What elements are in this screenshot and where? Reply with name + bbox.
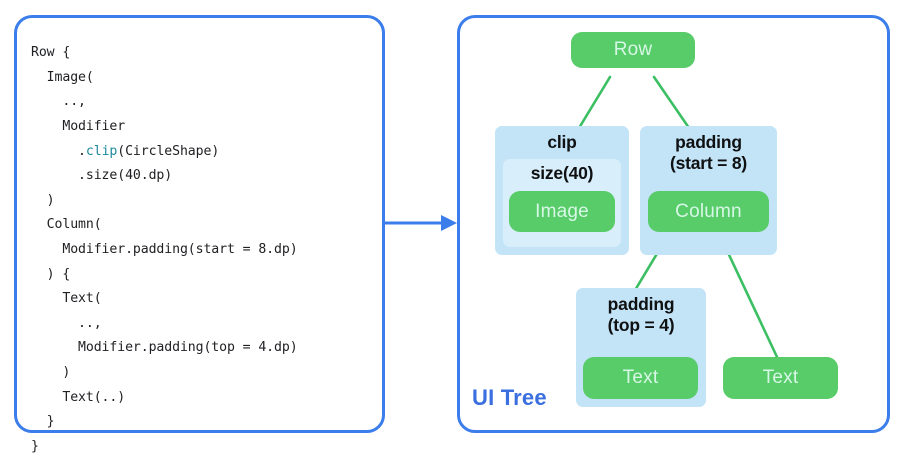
- tree-node-image-label: Image: [535, 201, 589, 223]
- code-token: ): [31, 365, 70, 380]
- tree-node-image[interactable]: Image: [509, 191, 615, 232]
- transform-arrow-icon: [385, 212, 459, 234]
- tree-node-column[interactable]: Column: [648, 191, 769, 232]
- code-line: Row {: [31, 41, 376, 66]
- code-token: }: [31, 414, 55, 429]
- code-token: .: [31, 144, 86, 159]
- code-line: ): [31, 189, 376, 214]
- code-line: .size(40.dp): [31, 164, 376, 189]
- code-line: Modifier: [31, 115, 376, 140]
- code-line: Column(: [31, 213, 376, 238]
- code-line: Text(: [31, 287, 376, 312]
- tree-node-row[interactable]: Row: [571, 32, 695, 68]
- code-token: Modifier.padding(start = 8.dp): [31, 242, 298, 257]
- code-token: ) {: [31, 267, 70, 282]
- tree-node-text-plain-label: Text: [763, 367, 799, 389]
- code-token-function: clip: [86, 144, 117, 159]
- modifier-node-padding-top-label-line1: padding: [576, 294, 706, 315]
- code-line: }: [31, 435, 376, 459]
- code-token: .size(40.dp): [31, 168, 172, 183]
- modifier-node-padding-start-label-line1: padding: [640, 132, 777, 153]
- diagram-root: Row { Image( .., Modifier .clip(CircleSh…: [0, 0, 904, 452]
- tree-node-text-plain[interactable]: Text: [723, 357, 838, 399]
- modifier-node-padding-top-label-line2: (top = 4): [576, 315, 706, 336]
- code-token: ): [31, 193, 55, 208]
- kotlin-code-block: Row { Image( .., Modifier .clip(CircleSh…: [31, 41, 376, 459]
- code-panel: Row { Image( .., Modifier .clip(CircleSh…: [14, 15, 385, 433]
- code-line: ..,: [31, 312, 376, 337]
- code-token: ..,: [31, 94, 86, 109]
- code-token: Modifier.padding(top = 4.dp): [31, 340, 298, 355]
- code-token: Text(: [31, 291, 102, 306]
- code-line: ..,: [31, 90, 376, 115]
- code-token: Image(: [31, 70, 94, 85]
- code-token: ..,: [31, 316, 102, 331]
- tree-node-text-padded-label: Text: [623, 367, 659, 389]
- tree-node-text-padded[interactable]: Text: [583, 357, 698, 399]
- modifier-node-padding-start-label-line2: (start = 8): [640, 153, 777, 174]
- code-line: Modifier.padding(start = 8.dp): [31, 238, 376, 263]
- modifier-node-clip-label: clip: [495, 132, 629, 153]
- code-line: Image(: [31, 66, 376, 91]
- code-line: Text(..): [31, 386, 376, 411]
- code-line: ): [31, 361, 376, 386]
- modifier-node-size-label: size(40): [503, 163, 621, 184]
- tree-node-column-label: Column: [675, 201, 742, 223]
- tree-node-row-label: Row: [614, 39, 653, 61]
- code-token: Modifier: [31, 119, 125, 134]
- code-token: }: [31, 439, 39, 454]
- code-token: Text(..): [31, 390, 125, 405]
- code-line: .clip(CircleShape): [31, 140, 376, 165]
- code-token: Column(: [31, 217, 102, 232]
- ui-tree-caption: UI Tree: [472, 385, 547, 411]
- code-line: ) {: [31, 263, 376, 288]
- code-line: }: [31, 410, 376, 435]
- code-token: Row {: [31, 45, 70, 60]
- code-token: (CircleShape): [117, 144, 219, 159]
- code-line: Modifier.padding(top = 4.dp): [31, 336, 376, 361]
